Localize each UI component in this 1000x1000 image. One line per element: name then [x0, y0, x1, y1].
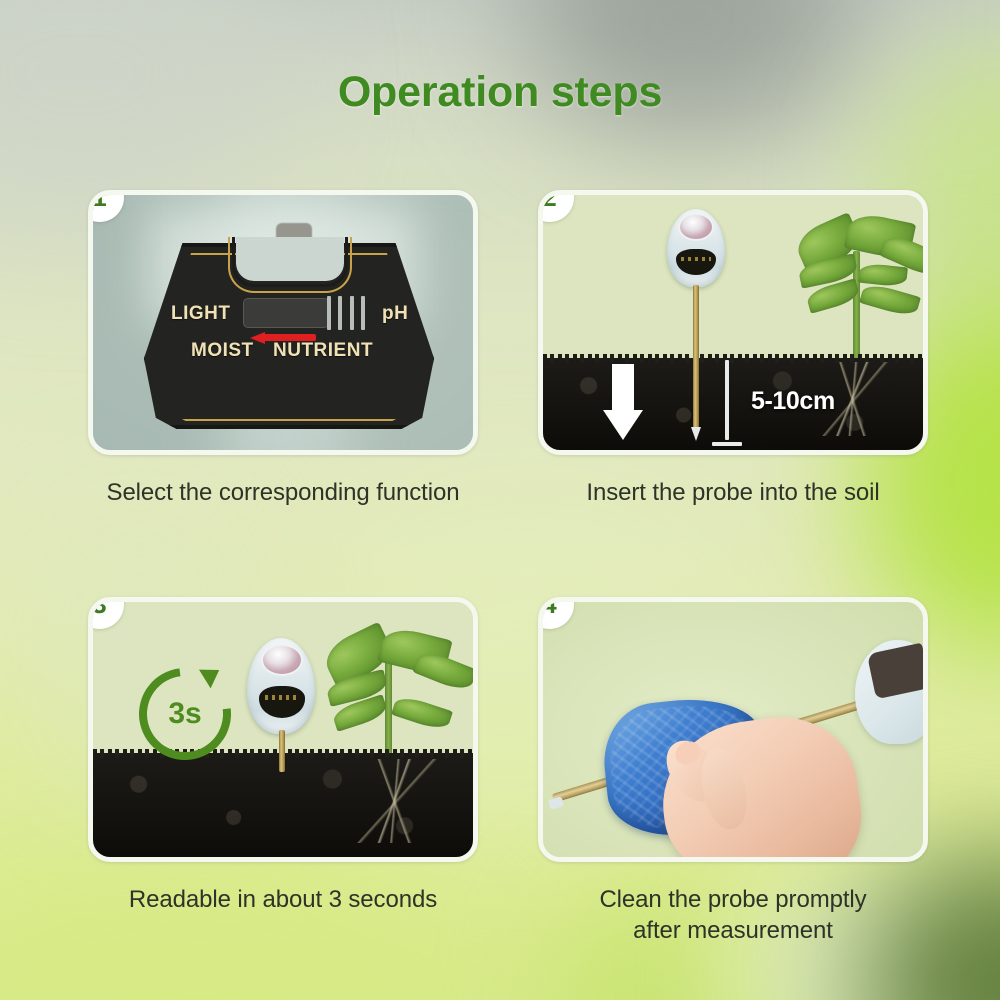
step-1: LIGHT pH MOIST NUTRIENT 1 Select the cor… — [88, 190, 478, 509]
step-4: 4 Clean the probe promptly after measure… — [538, 597, 928, 947]
infographic-page: Operation steps LIGHT pH — [0, 0, 1000, 1000]
step-4-caption-line-1: Clean the probe promptly — [538, 884, 928, 916]
depth-gauge-icon — [711, 360, 745, 446]
depth-label: 5-10cm — [751, 387, 835, 416]
plant-roots — [343, 759, 453, 843]
insert-probe-scene: 5-10cm — [543, 195, 923, 450]
steps-grid: LIGHT pH MOIST NUTRIENT 1 Select the cor… — [88, 190, 928, 947]
page-title: Operation steps — [0, 68, 1000, 117]
step-4-caption: Clean the probe promptly after measureme… — [538, 884, 928, 947]
step-4-image-card: 4 — [538, 597, 928, 862]
dial-label-ph: pH — [382, 303, 408, 325]
meter-dial-scene: LIGHT pH MOIST NUTRIENT — [93, 195, 473, 450]
dial-label-moist: MOIST — [191, 340, 254, 362]
dial-label-light: LIGHT — [171, 303, 231, 325]
step-4-caption-line-2: after measurement — [538, 915, 928, 947]
clean-probe-scene — [543, 602, 923, 857]
selector-window[interactable] — [243, 298, 329, 328]
soil-meter-device — [245, 638, 321, 778]
step-3-caption: Readable in about 3 seconds — [88, 884, 478, 916]
step-3: 3s 3 Readable in about 3 seconds — [88, 597, 478, 947]
plant-illustration — [789, 217, 923, 377]
step-2-caption: Insert the probe into the soil — [538, 477, 928, 509]
step-3-image-card: 3s 3 — [88, 597, 478, 862]
step-2-image-card: 5-10cm 2 — [538, 190, 928, 455]
down-arrow-icon — [603, 364, 643, 442]
selector-grip-icon[interactable] — [327, 295, 365, 331]
step-1-image-card: LIGHT pH MOIST NUTRIENT 1 — [88, 190, 478, 455]
reading-timer-scene: 3s — [93, 602, 473, 857]
left-arrow-icon — [250, 332, 316, 342]
step-1-caption: Select the corresponding function — [88, 477, 478, 509]
dial-label-nutrient: NUTRIENT — [273, 340, 373, 362]
timer-label: 3s — [139, 668, 231, 760]
timer-3s-icon: 3s — [139, 668, 231, 760]
step-2: 5-10cm 2 Insert the probe into the soil — [538, 190, 928, 509]
